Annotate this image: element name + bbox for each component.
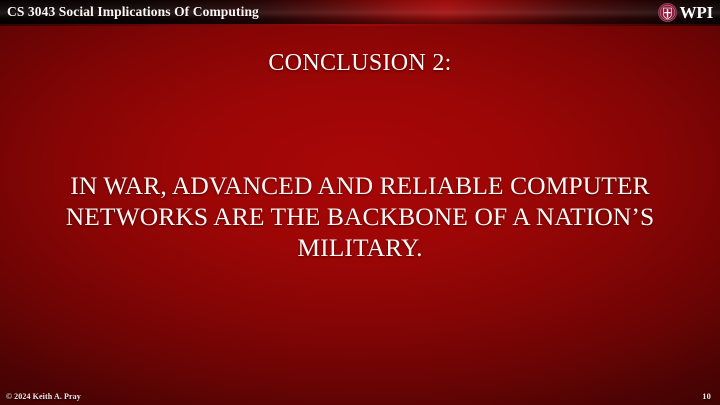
wpi-wordmark: WPI bbox=[680, 4, 713, 21]
header-divider-line bbox=[0, 24, 720, 26]
body-line: MILITARY. bbox=[44, 232, 676, 263]
body-line: IN WAR, ADVANCED AND RELIABLE COMPUTER bbox=[44, 170, 676, 201]
slide-title: CONCLUSION 2: bbox=[0, 50, 720, 76]
presentation-slide: CS 3043 Social Implications Of Computing… bbox=[0, 0, 720, 405]
copyright-notice: © 2024 Keith A. Pray bbox=[6, 392, 81, 401]
wpi-seal-icon bbox=[658, 3, 677, 22]
slide-body-text: IN WAR, ADVANCED AND RELIABLE COMPUTER N… bbox=[44, 170, 676, 263]
slide-page-number: 10 bbox=[702, 391, 711, 401]
course-title: CS 3043 Social Implications Of Computing bbox=[7, 4, 259, 20]
body-line: NETWORKS ARE THE BACKBONE OF A NATION’S bbox=[44, 201, 676, 232]
wpi-logo: WPI bbox=[658, 1, 713, 23]
